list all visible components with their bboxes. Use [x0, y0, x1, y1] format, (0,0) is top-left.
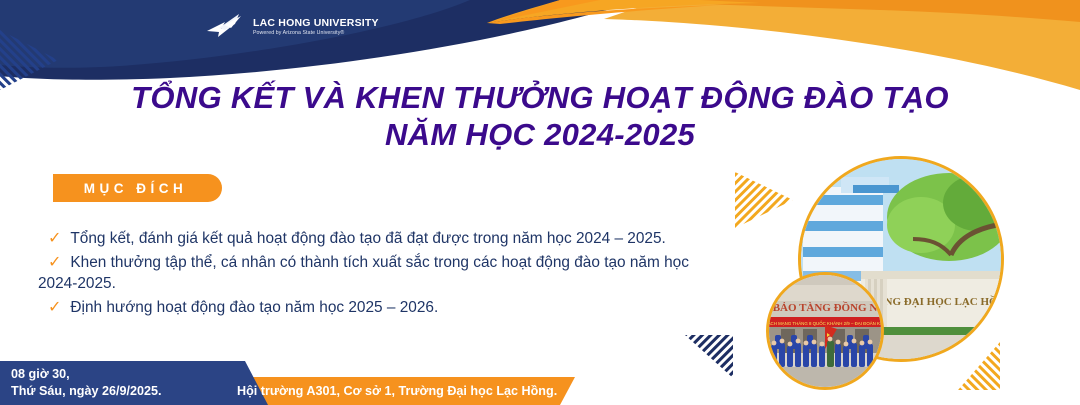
list-item: ✓Tổng kết, đánh giá kết quả hoạt động đà…: [38, 228, 698, 250]
headline-line-1: TỔNG KẾT VÀ KHEN THƯỞNG HOẠT ĐỘNG ĐÀO TẠ…: [0, 80, 1080, 117]
logo-title: LAC HONG UNIVERSITY: [253, 18, 379, 29]
striped-triangle-blue-small-icon: [683, 333, 735, 381]
list-item-text: Định hướng hoạt động đào tạo năm học 202…: [70, 299, 438, 316]
event-location: Hội trường A301, Cơ sở 1, Trường Đại học…: [237, 377, 577, 405]
purpose-list: ✓Tổng kết, đánh giá kết quả hoạt động đà…: [38, 228, 698, 320]
event-time-line-1: 08 giờ 30,: [11, 366, 250, 383]
logo-subtitle: Powered by Arizona State University®: [253, 31, 379, 36]
check-icon: ✓: [48, 299, 61, 316]
list-item-text: Tổng kết, đánh giá kết quả hoạt động đào…: [70, 230, 665, 247]
group-photo: BẢO TÀNG ĐỒNG N CÁCH MẠNG THÁNG 8 QUỐC K…: [766, 272, 884, 390]
group-photo-image: BẢO TÀNG ĐỒNG N CÁCH MẠNG THÁNG 8 QUỐC K…: [769, 275, 881, 387]
check-icon: ✓: [48, 254, 61, 271]
purpose-badge: MỤC ĐÍCH: [53, 174, 222, 202]
university-logo: LAC HONG UNIVERSITY Powered by Arizona S…: [205, 10, 355, 44]
event-time: 08 giờ 30, Thứ Sáu, ngày 26/9/2025.: [0, 361, 250, 405]
logo-wordmark: LAC HONG UNIVERSITY Powered by Arizona S…: [253, 18, 379, 36]
check-icon: ✓: [48, 230, 61, 247]
striped-triangle-orange-icon: [733, 170, 795, 230]
svg-text:BẢO TÀNG ĐỒNG N: BẢO TÀNG ĐỒNG N: [773, 301, 878, 314]
striped-triangle-orange-small-icon: [955, 340, 1003, 392]
event-banner: LAC HONG UNIVERSITY Powered by Arizona S…: [0, 0, 1080, 405]
headline-line-2: NĂM HỌC 2024-2025: [0, 117, 1080, 154]
list-item: ✓Định hướng hoạt động đào tạo năm học 20…: [38, 297, 698, 319]
list-item: ✓Khen thưởng tập thể, cá nhân có thành t…: [38, 252, 698, 295]
list-item-text: Khen thưởng tập thể, cá nhân có thành tí…: [38, 254, 689, 293]
page-title: TỔNG KẾT VÀ KHEN THƯỞNG HOẠT ĐỘNG ĐÀO TẠ…: [0, 80, 1080, 153]
event-time-line-2: Thứ Sáu, ngày 26/9/2025.: [11, 383, 250, 400]
bird-plane-logo-icon: [205, 12, 247, 42]
purpose-badge-label: MỤC ĐÍCH: [84, 181, 188, 196]
